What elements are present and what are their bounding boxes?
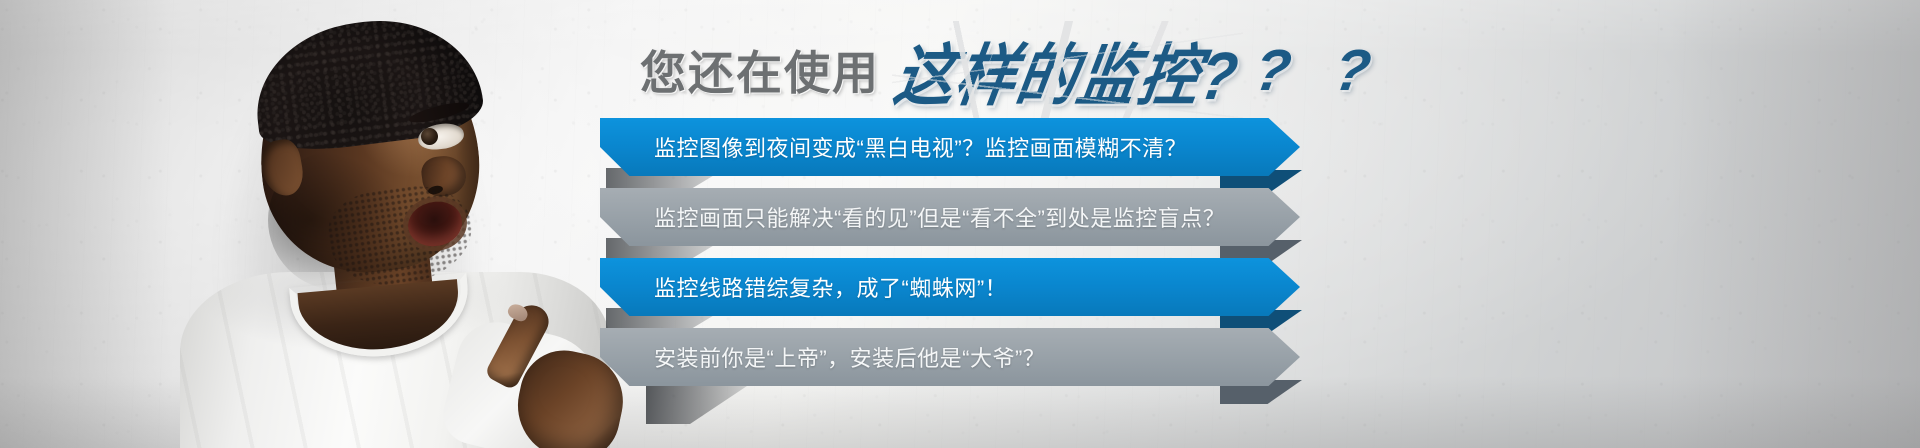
list-item[interactable]: 监控图像到夜间变成“黑白电视”？监控画面模糊不清？ (600, 118, 1328, 182)
list-item[interactable]: 监控画面只能解决“看的见”但是“看不全”到处是监控盲点？ (600, 188, 1328, 252)
headline: 您还在使用 这样的监控? ? ? (640, 22, 1380, 118)
promo-banner: 您还在使用 这样的监控? ? ? 监控图像到夜间变成“黑白电视”？监控画面模糊不… (0, 0, 1920, 448)
list-item-label: 监控图像到夜间变成“黑白电视”？监控画面模糊不清？ (654, 118, 1187, 176)
headline-prefix: 您还在使用 (640, 37, 880, 103)
list-item-label: 监控画面只能解决“看的见”但是“看不全”到处是监控盲点？ (654, 188, 1225, 246)
headline-question-marks: ? ? (1249, 37, 1389, 104)
headline-emphasis: 这样的监控? (888, 21, 1246, 118)
list-item-label: 监控线路错综复杂，成了“蜘蛛网”！ (654, 258, 1007, 316)
pain-point-list: 监控图像到夜间变成“黑白电视”？监控画面模糊不清？ 监控画面只能解决“看的见”但… (600, 118, 1360, 448)
person-pupil (421, 128, 438, 145)
headline-emphasis-wrap: 这样的监控? (896, 27, 1239, 114)
list-item[interactable]: 安装前你是“上帝”，安装后他是“大爷”？ (600, 328, 1328, 392)
bar-drop-shadow (646, 380, 756, 424)
list-item[interactable]: 监控线路错综复杂，成了“蜘蛛网”！ (600, 258, 1328, 322)
list-item-label: 安装前你是“上帝”，安装后他是“大爷”？ (654, 328, 1045, 386)
